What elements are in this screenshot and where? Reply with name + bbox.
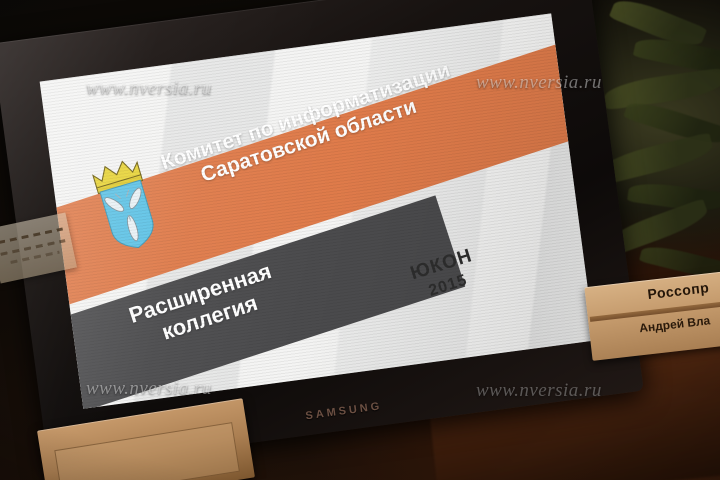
- watermark-bottom-right: www.nversia.ru: [476, 380, 602, 402]
- photo-scene: Комитет по информатизации Саратовской об…: [0, 0, 720, 480]
- watermark-bottom-left: www.nversia.ru: [86, 378, 212, 400]
- watermark-top-right: www.nversia.ru: [476, 72, 602, 94]
- watermark-top-left: www.nversia.ru: [86, 78, 212, 100]
